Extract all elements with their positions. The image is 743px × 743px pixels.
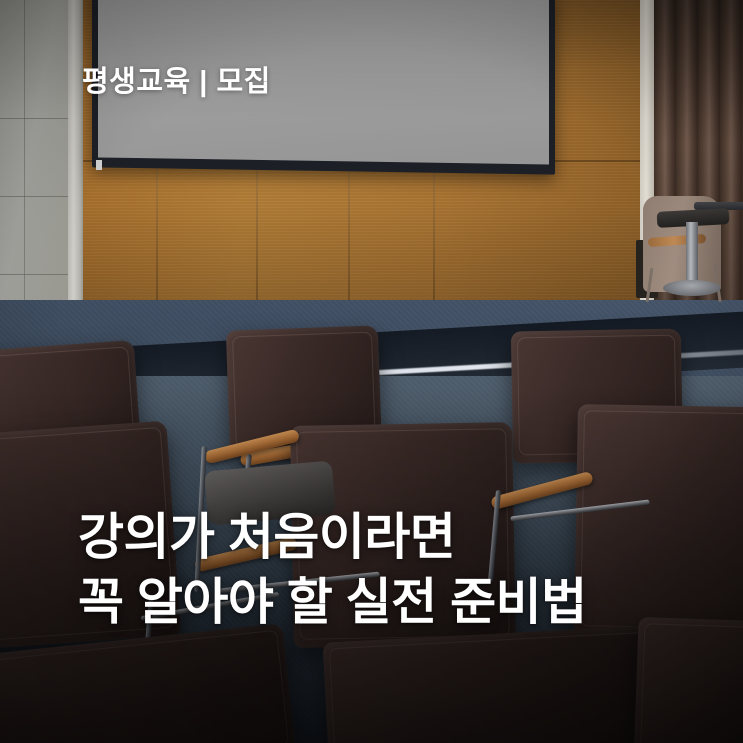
bar-stool-base <box>663 280 721 296</box>
chair-front-far-right <box>633 617 743 743</box>
chair-front-right <box>323 625 660 743</box>
promo-card: 평생교육 | 모집 강의가 처음이라면 꼭 알아야 할 실전 준비법 <box>0 0 743 743</box>
screen-corner-clip <box>96 160 102 170</box>
armrest-wood <box>204 429 300 465</box>
headline-line-1: 강의가 처음이라면 <box>78 509 455 565</box>
grey-wall-panels <box>0 0 70 318</box>
bar-stool-post <box>686 222 698 284</box>
wall-pillar <box>68 0 84 318</box>
headline-line-2: 꼭 알아야 할 실전 준비법 <box>78 570 587 635</box>
headline: 강의가 처음이라면 꼭 알아야 할 실전 준비법 <box>78 505 587 635</box>
category-kicker: 평생교육 | 모집 <box>82 64 271 100</box>
back-wall <box>0 0 743 318</box>
